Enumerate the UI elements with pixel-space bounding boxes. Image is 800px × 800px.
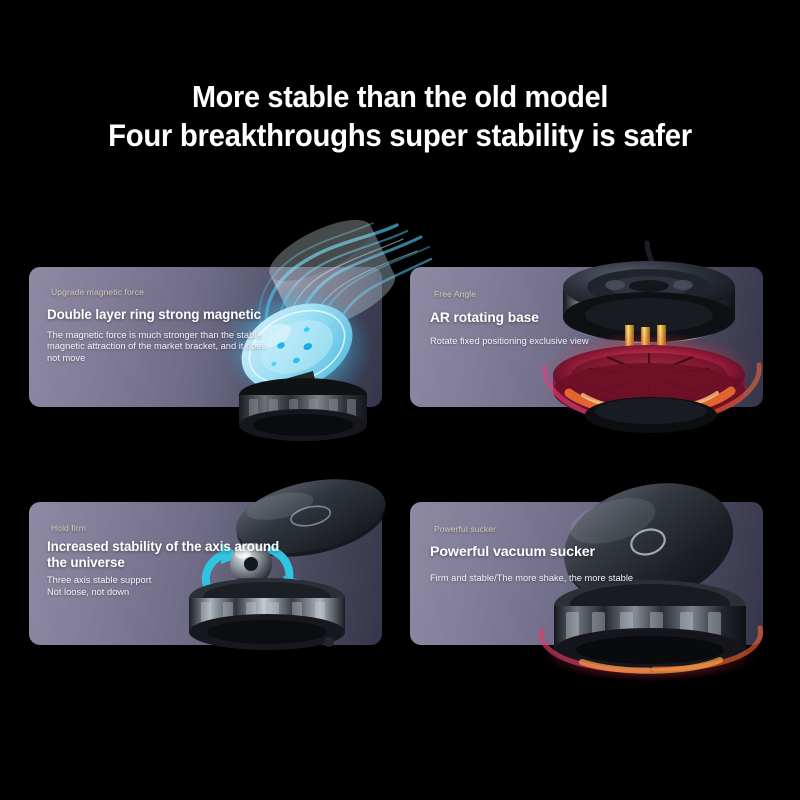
feature-card-powerful-sucker[interactable]: Powerful sucker Powerful vacuum sucker F… bbox=[410, 502, 763, 645]
card-text-block: Hold firm Increased stability of the axi… bbox=[47, 523, 297, 598]
card-eyebrow: Free Angle bbox=[434, 289, 670, 299]
card-text-block: Free Angle AR rotating base Rotate fixed… bbox=[430, 289, 670, 347]
card-title: AR rotating base bbox=[430, 310, 670, 326]
card-eyebrow: Hold firm bbox=[51, 523, 297, 533]
feature-card-grid: Upgrade magnetic force Double layer ring… bbox=[29, 267, 763, 645]
card-title: Increased stability of the axis around t… bbox=[47, 539, 297, 570]
card-text-block: Upgrade magnetic force Double layer ring… bbox=[47, 287, 272, 364]
card-title: Powerful vacuum sucker bbox=[430, 545, 665, 561]
page-headline: More stable than the old model Four brea… bbox=[28, 78, 772, 154]
feature-card-hold-firm[interactable]: Hold firm Increased stability of the axi… bbox=[29, 502, 382, 645]
headline-line-2: Four breakthroughs super stability is sa… bbox=[28, 116, 772, 154]
card-eyebrow: Powerful sucker bbox=[434, 524, 665, 534]
card-body: Firm and stable/The more shake, the more… bbox=[430, 573, 665, 585]
feature-card-free-angle[interactable]: Free Angle AR rotating base Rotate fixed… bbox=[410, 267, 763, 407]
card-body: Three axis stable support Not loose, not… bbox=[47, 575, 297, 598]
card-text-block: Powerful sucker Powerful vacuum sucker F… bbox=[430, 524, 665, 584]
feature-card-upgrade-magnetic-force[interactable]: Upgrade magnetic force Double layer ring… bbox=[29, 267, 382, 407]
card-eyebrow: Upgrade magnetic force bbox=[51, 287, 272, 297]
card-body: The magnetic force is much stronger than… bbox=[47, 330, 272, 365]
card-title: Double layer ring strong magnetic bbox=[47, 307, 272, 323]
card-body: Rotate fixed positioning exclusive view bbox=[430, 336, 670, 348]
headline-line-1: More stable than the old model bbox=[192, 79, 608, 114]
